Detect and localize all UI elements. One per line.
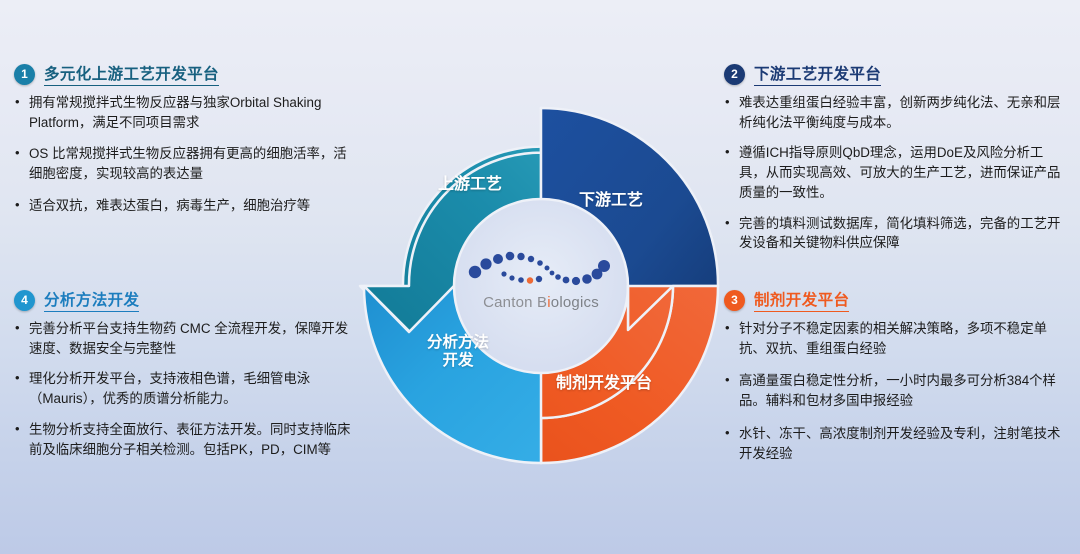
list-item: 拥有常规搅拌式生物反应器与独家Orbital Shaking Platform，… bbox=[14, 93, 359, 132]
list-item: 适合双抗，难表达蛋白，病毒生产，细胞治疗等 bbox=[14, 196, 359, 216]
logo-word-part2: ologics bbox=[551, 294, 599, 311]
panel-formulation-platform: 3 制剂开发平台 针对分子不稳定因素的相关解决策略，多项不稳定单抗、双抗、重组蛋… bbox=[724, 288, 1069, 476]
panel-title-1: 多元化上游工艺开发平台 bbox=[44, 62, 219, 86]
logo-wordmark: Canton Biologics bbox=[466, 294, 616, 311]
panel-upstream-platform: 1 多元化上游工艺开发平台 拥有常规搅拌式生物反应器与独家Orbital Sha… bbox=[14, 62, 359, 228]
panel-title-3: 制剂开发平台 bbox=[754, 288, 849, 312]
logo-word-part1: Canton B bbox=[483, 294, 547, 311]
accent-dot bbox=[527, 277, 533, 283]
panel-analytical-development: 4 分析方法开发 完善分析平台支持生物药 CMC 全流程开发，保障开发速度、数据… bbox=[14, 288, 359, 470]
badge-number-4: 4 bbox=[14, 290, 35, 311]
bullet-list-1: 拥有常规搅拌式生物反应器与独家Orbital Shaking Platform，… bbox=[14, 93, 359, 216]
panel-header-4: 4 分析方法开发 bbox=[14, 288, 359, 312]
panel-title-4: 分析方法开发 bbox=[44, 288, 139, 312]
panel-header-1: 1 多元化上游工艺开发平台 bbox=[14, 62, 359, 86]
dna-dots-icon bbox=[466, 246, 616, 294]
list-item: OS 比常规搅拌式生物反应器拥有更高的细胞活率，活细胞密度，实现较高的表达量 bbox=[14, 144, 359, 183]
bullet-list-3: 针对分子不稳定因素的相关解决策略，多项不稳定单抗、双抗、重组蛋白经验 高通量蛋白… bbox=[724, 319, 1069, 463]
list-item: 生物分析支持全面放行、表征方法开发。同时支持临床前及临床细胞分子相关检测。包括P… bbox=[14, 420, 359, 459]
cycle-diagram: 上游工艺 下游工艺 制剂开发平台 分析方法 开发 bbox=[352, 86, 730, 486]
list-item: 遵循ICH指导原则QbD理念，运用DoE及风险分析工具，从而实现高效、可放大的生… bbox=[724, 143, 1069, 202]
panel-header-3: 3 制剂开发平台 bbox=[724, 288, 1069, 312]
bullet-list-4: 完善分析平台支持生物药 CMC 全流程开发，保障开发速度、数据安全与完整性 理化… bbox=[14, 319, 359, 459]
list-item: 完善的填料测试数据库，简化填料筛选，完备的工艺开发设备和关键物料供应保障 bbox=[724, 214, 1069, 253]
list-item: 针对分子不稳定因素的相关解决策略，多项不稳定单抗、双抗、重组蛋白经验 bbox=[724, 319, 1069, 358]
company-logo: Canton Biologics bbox=[466, 246, 616, 328]
list-item: 完善分析平台支持生物药 CMC 全流程开发，保障开发速度、数据安全与完整性 bbox=[14, 319, 359, 358]
list-item: 难表达重组蛋白经验丰富，创新两步纯化法、无亲和层析纯化法平衡纯度与成本。 bbox=[724, 93, 1069, 132]
list-item: 高通量蛋白稳定性分析，一小时内最多可分析384个样品。辅料和包材多国申报经验 bbox=[724, 371, 1069, 410]
badge-number-1: 1 bbox=[14, 64, 35, 85]
list-item: 水针、冻干、高浓度制剂开发经验及专利，注射笔技术开发经验 bbox=[724, 424, 1069, 463]
slide-canvas: 1 多元化上游工艺开发平台 拥有常规搅拌式生物反应器与独家Orbital Sha… bbox=[0, 0, 1080, 554]
bullet-list-2: 难表达重组蛋白经验丰富，创新两步纯化法、无亲和层析纯化法平衡纯度与成本。 遵循I… bbox=[724, 93, 1069, 253]
badge-number-2: 2 bbox=[724, 64, 745, 85]
list-item: 理化分析开发平台，支持液相色谱，毛细管电泳（Mauris），优秀的质谱分析能力。 bbox=[14, 369, 359, 408]
panel-title-2: 下游工艺开发平台 bbox=[754, 62, 881, 86]
panel-header-2: 2 下游工艺开发平台 bbox=[724, 62, 1069, 86]
panel-downstream-platform: 2 下游工艺开发平台 难表达重组蛋白经验丰富，创新两步纯化法、无亲和层析纯化法平… bbox=[724, 62, 1069, 264]
